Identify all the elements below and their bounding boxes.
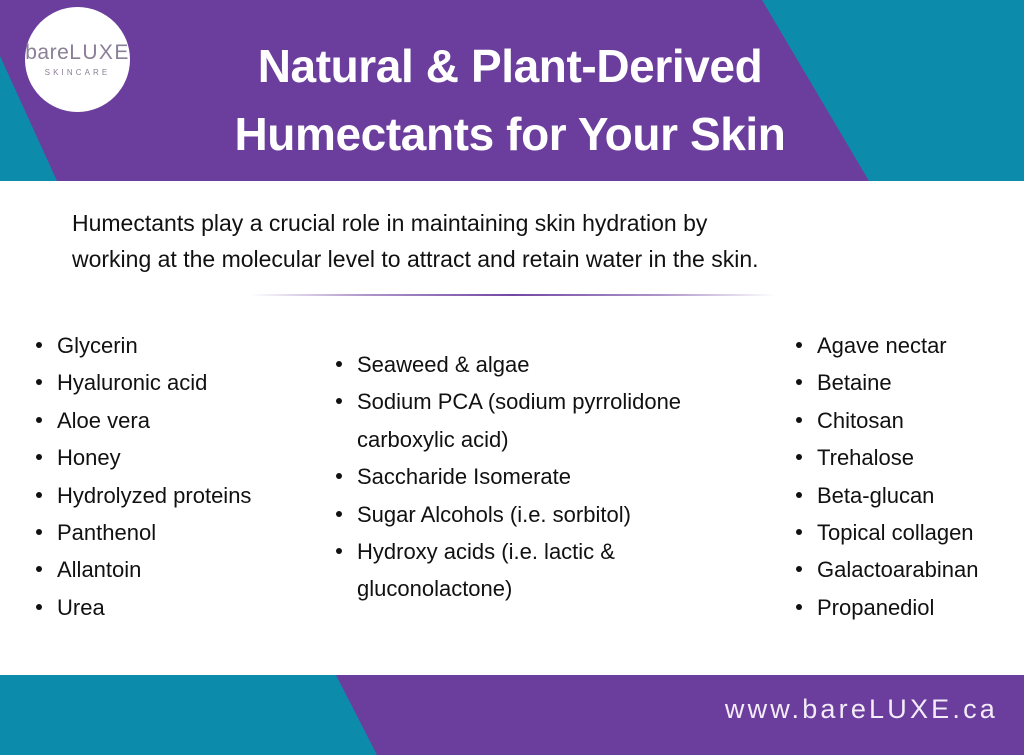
- list-item: Hydrolyzed proteins: [33, 477, 323, 514]
- list-item: Allantoin: [33, 551, 323, 588]
- list-item: Galactoarabinan: [793, 551, 1023, 588]
- list-item: Honey: [33, 439, 323, 476]
- list-item: Hyaluronic acid: [33, 364, 323, 401]
- list-item: Chitosan: [793, 402, 1023, 439]
- logo-wordmark: bareLUXE: [25, 42, 130, 63]
- list-item: Hydroxy acids (i.e. lactic & gluconolact…: [333, 533, 773, 608]
- brand-logo: bareLUXE SKINCARE: [25, 7, 130, 112]
- list-item: Urea: [33, 589, 323, 626]
- title-line-2: Humectants for Your Skin: [150, 100, 870, 168]
- footer-band: www.bareLUXE.ca: [0, 675, 1024, 755]
- humectant-list-column-3: Agave nectarBetaineChitosanTrehaloseBeta…: [793, 327, 1023, 626]
- list-item: Glycerin: [33, 327, 323, 364]
- list-item: Saccharide Isomerate: [333, 458, 773, 495]
- list-item: Sodium PCA (sodium pyrrolidone carboxyli…: [333, 383, 773, 458]
- list-item: Topical collagen: [793, 514, 1023, 551]
- page-title: Natural & Plant-Derived Humectants for Y…: [150, 32, 870, 168]
- list-item: Propanediol: [793, 589, 1023, 626]
- humectant-list-column-1: GlycerinHyaluronic acidAloe veraHoneyHyd…: [33, 327, 323, 626]
- content-area: Humectants play a crucial role in mainta…: [0, 181, 1024, 675]
- header-band: bareLUXE SKINCARE Natural & Plant-Derive…: [0, 0, 1024, 181]
- list-item: Panthenol: [33, 514, 323, 551]
- website-url[interactable]: www.bareLUXE.ca: [725, 694, 998, 725]
- logo-tagline: SKINCARE: [45, 69, 111, 77]
- list-item: Beta-glucan: [793, 477, 1023, 514]
- list-item: Trehalose: [793, 439, 1023, 476]
- list-item: Aloe vera: [33, 402, 323, 439]
- list-item: Agave nectar: [793, 327, 1023, 364]
- list-item: Betaine: [793, 364, 1023, 401]
- list-item: Sugar Alcohols (i.e. sorbitol): [333, 496, 773, 533]
- humectant-columns: GlycerinHyaluronic acidAloe veraHoneyHyd…: [0, 181, 1024, 675]
- infographic-poster: bareLUXE SKINCARE Natural & Plant-Derive…: [0, 0, 1024, 755]
- humectant-list-column-2: Seaweed & algaeSodium PCA (sodium pyrrol…: [333, 346, 773, 608]
- title-line-1: Natural & Plant-Derived: [150, 32, 870, 100]
- list-item: Seaweed & algae: [333, 346, 773, 383]
